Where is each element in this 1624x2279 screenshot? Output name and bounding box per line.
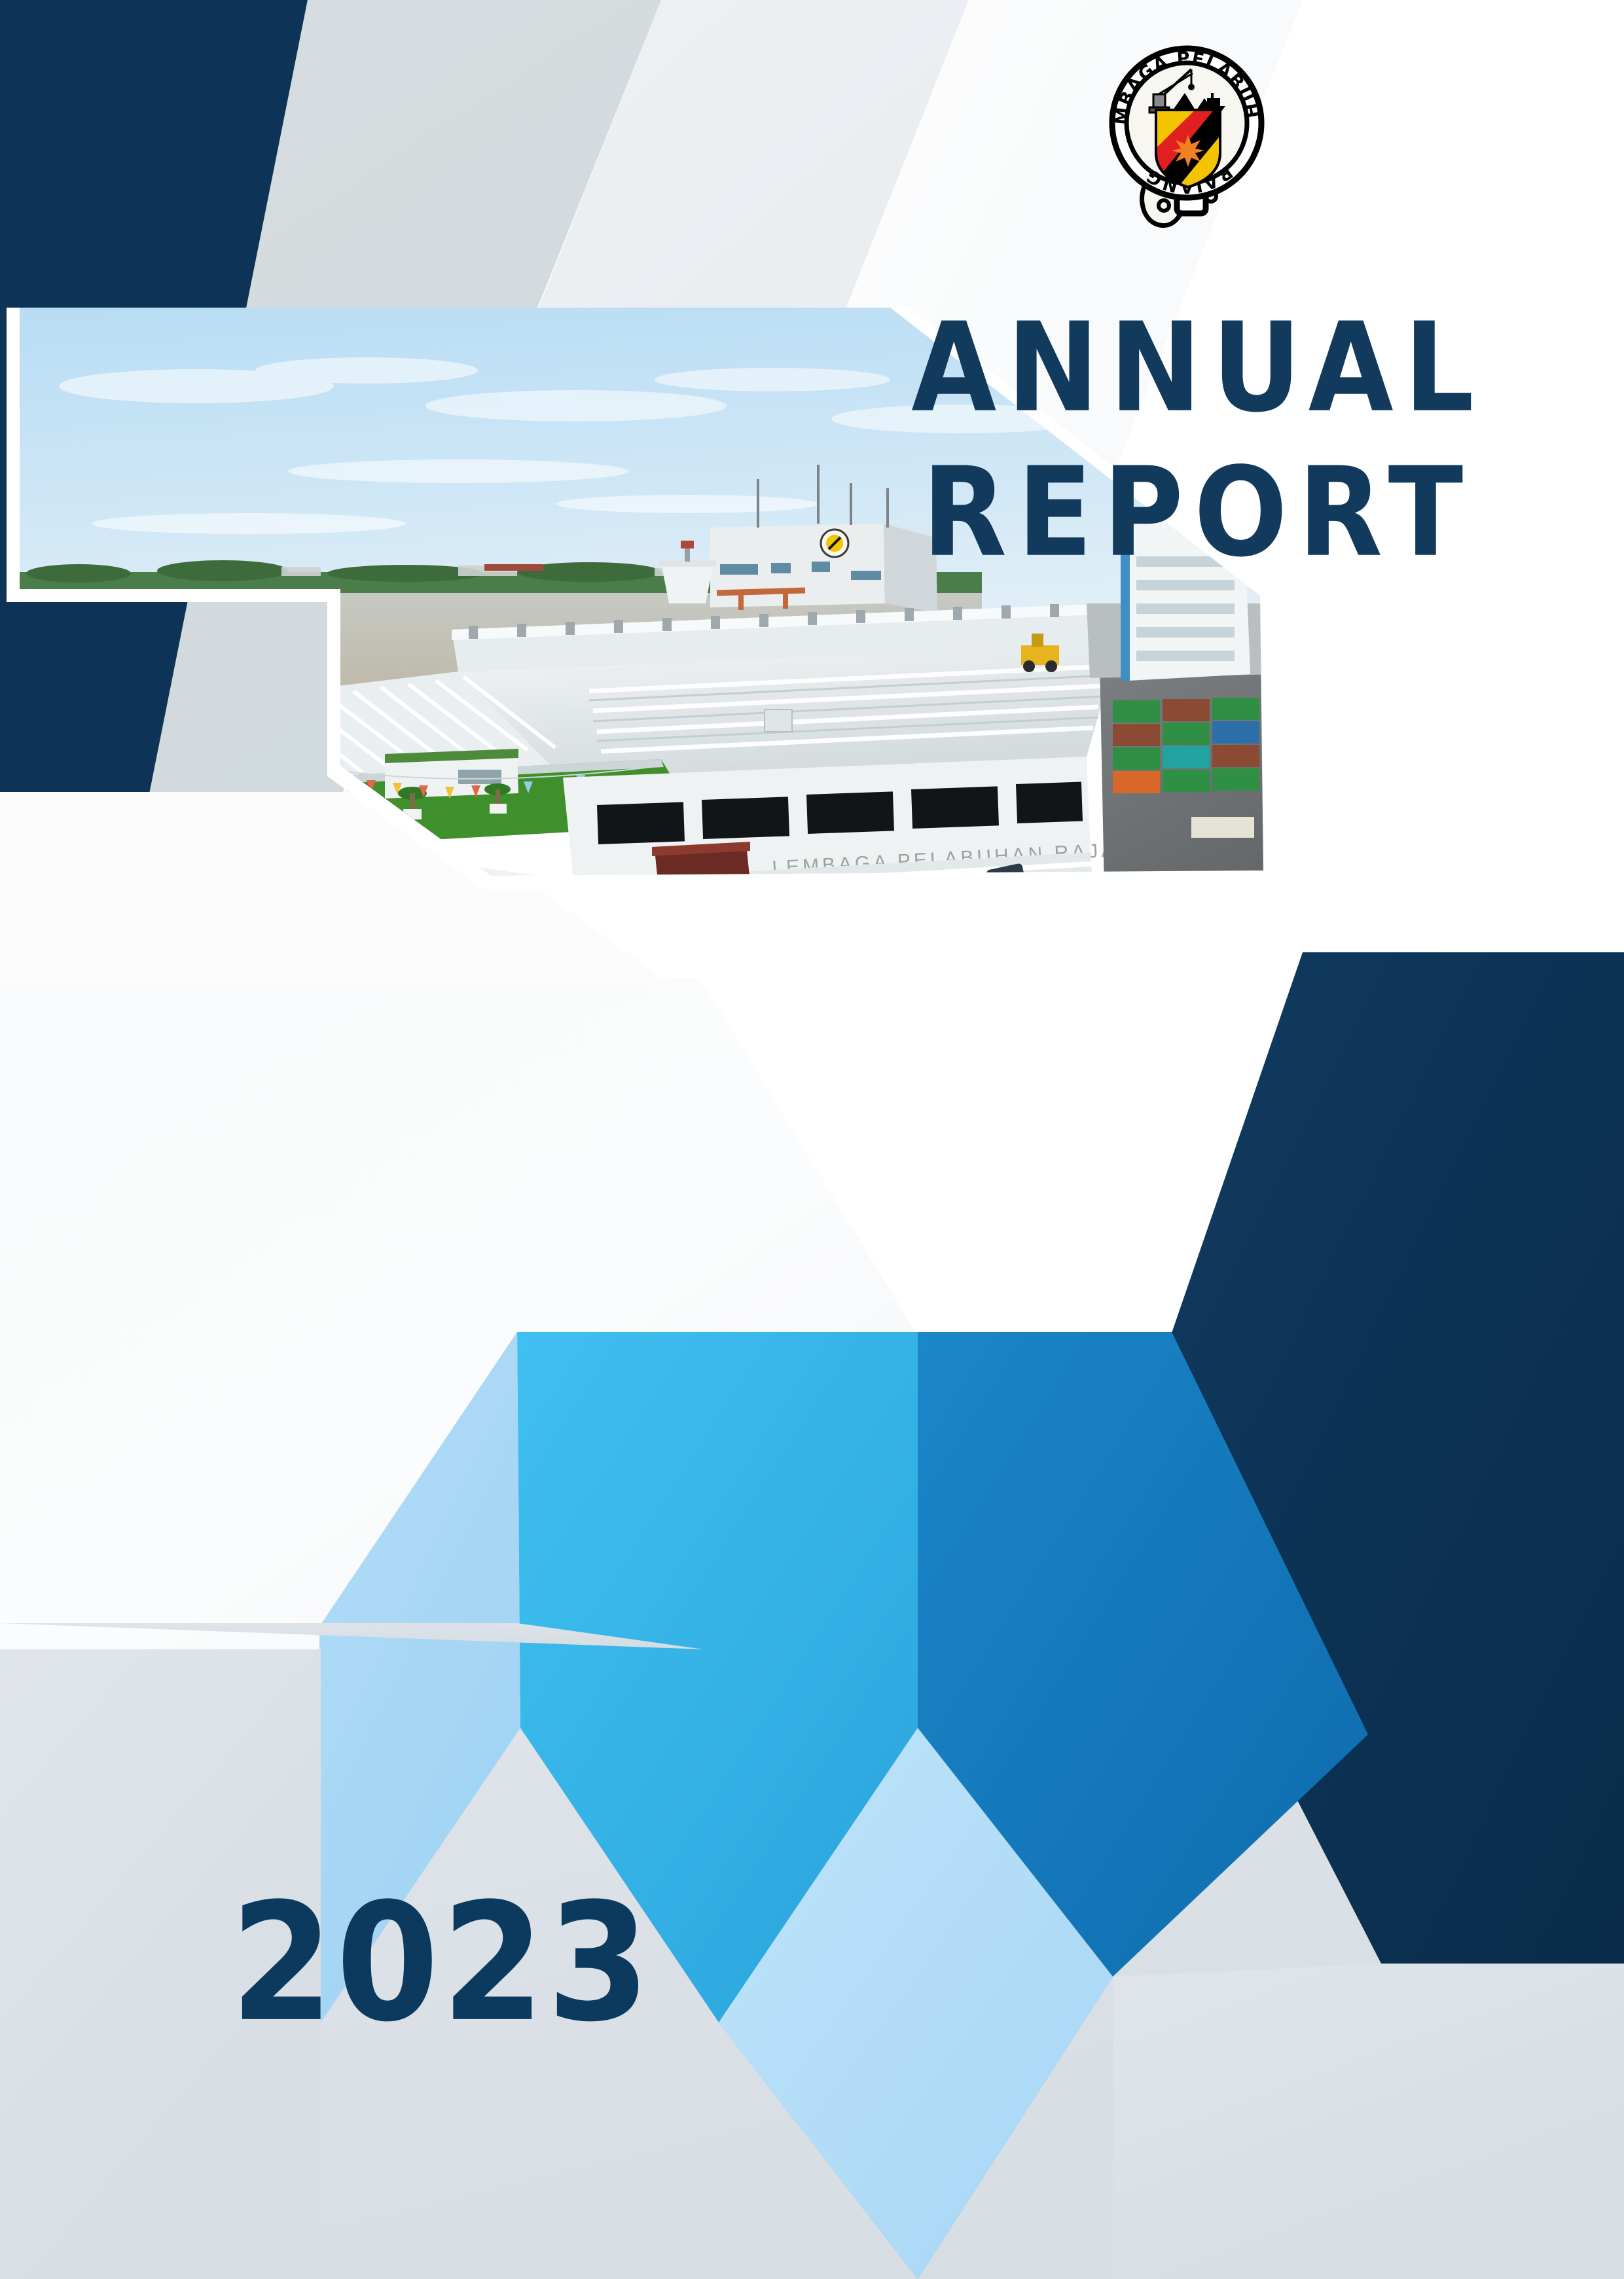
lembaga-pelabuhan-rajang-crest-icon: LEMBAGA PELABUHAN RAJANG [1105, 25, 1269, 267]
bg-wash-bottom-right [1113, 1964, 1624, 2279]
truck-with-container: SIN YANG [1092, 916, 1265, 963]
roadside-trees [482, 911, 925, 988]
annual-report-cover-page: LEMBAGA PELABUHAN RAJANG [0, 0, 1624, 2279]
title-line-report: REPORT [871, 452, 1525, 573]
road-marking-text: BOLEH [659, 948, 729, 978]
container-label: SIN YANG [1151, 930, 1229, 947]
cover-year: 2023 [230, 1869, 653, 2058]
organisation-logo: LEMBAGA PELABUHAN RAJANG [1105, 25, 1269, 267]
title-line-annual: ANNUAL [871, 308, 1525, 428]
cover-title: ANNUAL REPORT [871, 308, 1525, 560]
